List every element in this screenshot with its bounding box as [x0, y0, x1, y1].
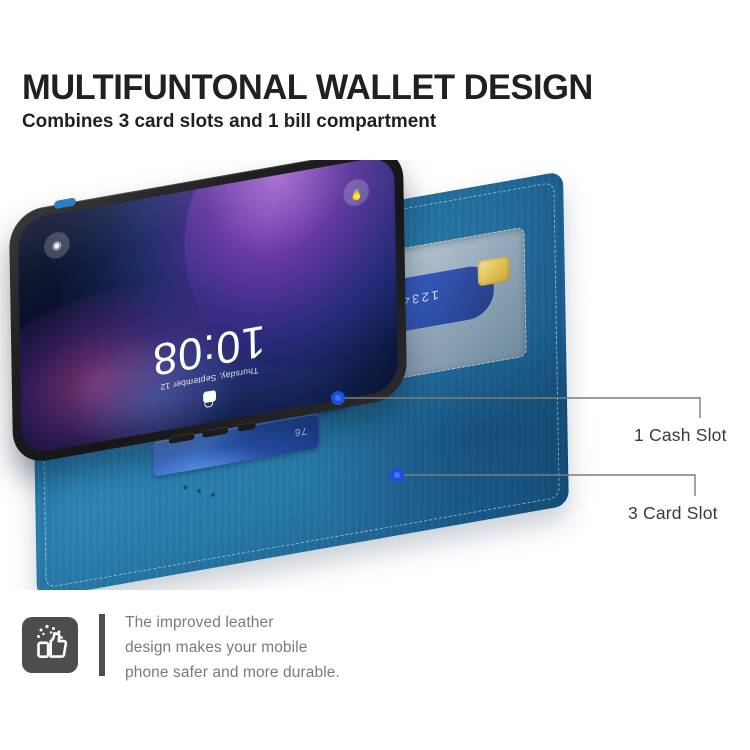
page-subtitle: Combines 3 card slots and 1 bill compart…	[22, 110, 436, 133]
feature-note: The improved leather design makes your m…	[22, 610, 340, 685]
feature-description: The improved leather design makes your m…	[125, 610, 340, 685]
callout-label-cash-slot: 1 Cash Slot	[634, 425, 727, 446]
feature-line-2: design makes your mobile	[125, 635, 340, 660]
feature-divider	[99, 614, 105, 676]
camera-icon[interactable]: ◉	[44, 230, 70, 261]
flashlight-icon[interactable]: 💡	[343, 177, 369, 208]
thumbs-up-icon	[22, 617, 78, 673]
product-infographic: MULTIFUNTONAL WALLET DESIGN Combines 3 c…	[0, 0, 750, 750]
lock-icon	[203, 390, 216, 403]
page-title: MULTIFUNTONAL WALLET DESIGN	[22, 68, 593, 108]
feature-line-3: phone safer and more durable.	[125, 660, 340, 685]
feature-line-1: The improved leather	[125, 610, 340, 635]
card-slot-1-label: 76	[294, 424, 307, 437]
credit-card-chip-icon	[478, 256, 510, 287]
product-photo: 1234 5678 UTD 3K 9P 76	[0, 160, 660, 590]
callout-label-card-slot: 3 Card Slot	[628, 503, 718, 524]
